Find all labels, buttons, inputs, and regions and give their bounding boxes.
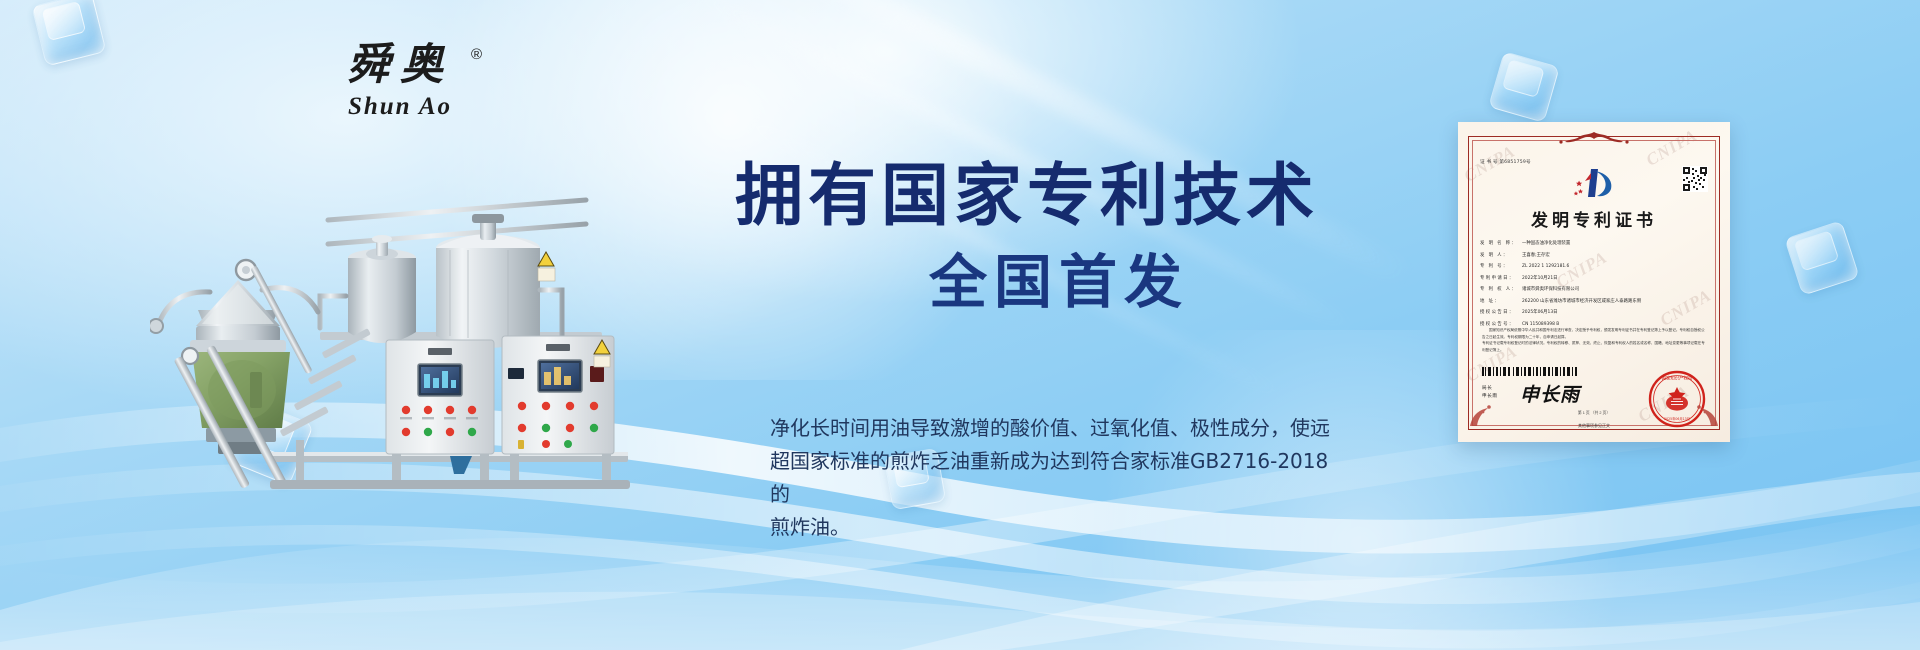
body-copy-block: 净化长时间用油导致激增的酸价值、过氧化值、极性成分，使远 超国家标准的煎炸乏油重… xyxy=(770,412,1330,544)
certificate-field-row: 发 明 人：王喜春;王存宏 xyxy=(1480,250,1708,262)
ice-cube-top-left xyxy=(31,0,106,67)
certificate-field-label: 专 利 号： xyxy=(1480,261,1522,273)
cnipa-emblem-icon xyxy=(1571,167,1617,199)
headline-secondary: 全国首发 xyxy=(735,253,1435,311)
certificate-field-row: 专 利 号：ZL 2022 1 1292181.6 xyxy=(1480,261,1708,273)
certificate-field-row: 授权公告日：2025年06月13日 xyxy=(1480,307,1708,319)
certificate-field-label: 授权公告日： xyxy=(1480,307,1522,319)
certificate-field-value: 2022年10月21日 xyxy=(1522,273,1708,285)
certificate-field-label: 发 明 人： xyxy=(1480,250,1522,262)
certificate-field-label: 专利申请日： xyxy=(1480,273,1522,285)
headline-block: 拥有国家专利技术 全国首发 xyxy=(735,163,1435,311)
certificate-field-row: 专利申请日：2022年10月21日 xyxy=(1480,273,1708,285)
certificate-director-block: 局长 申长雨 xyxy=(1482,384,1498,400)
certificate-field-value: 诸城市舜奥环保科技有限公司 xyxy=(1522,284,1708,296)
certificate-field-value: 王喜春;王存宏 xyxy=(1522,250,1708,262)
certificate-field-value: 一种固态油净化处理装置 xyxy=(1522,238,1708,250)
certificate-field-label: 发 明 名 称： xyxy=(1480,238,1522,250)
body-copy-text: 净化长时间用油导致激增的酸价值、过氧化值、极性成分，使远 超国家标准的煎炸乏油重… xyxy=(770,412,1330,544)
certificate-flourish-ornament xyxy=(1549,131,1639,145)
certificate-page-number: 第 1 页 （共 2 页） xyxy=(1458,411,1730,416)
brand-logo: 舜奥 ® Shun Ao xyxy=(330,44,470,126)
certificate-barcode xyxy=(1482,367,1580,376)
certificate-field-label: 地 址： xyxy=(1480,296,1522,308)
certificate-field-row: 地 址：262200 山东省潍坊市诸城市经济开发区咸家庄人泰路路东侧 xyxy=(1480,296,1708,308)
director-name: 申长雨 xyxy=(1482,392,1498,400)
certificate-field-row: 发 明 名 称：一种固态油净化处理装置 xyxy=(1480,238,1708,250)
certificate-title: 发明专利证书 xyxy=(1458,206,1730,231)
director-label: 局长 xyxy=(1482,384,1498,392)
svg-text:国家知识产权局: 国家知识产权局 xyxy=(1662,375,1693,382)
product-equipment-illustration xyxy=(150,140,680,500)
certificate-field-value: 2025年06月13日 xyxy=(1522,307,1708,319)
certificate-field-list: 发 明 名 称：一种固态油净化处理装置发 明 人：王喜春;王存宏专 利 号：ZL… xyxy=(1480,238,1708,330)
logo-chinese-name: 舜奥 xyxy=(330,44,470,87)
corner-ornament-bottom-left xyxy=(1470,404,1496,426)
certificate-footnote: 其他事项参见正文 xyxy=(1458,423,1730,429)
certificate-field-label: 专 利 权 人： xyxy=(1480,284,1522,296)
certificate-field-value: 262200 山东省潍坊市诸城市经济开发区咸家庄人泰路路东侧 xyxy=(1522,296,1708,308)
corner-ornament-bottom-right xyxy=(1692,404,1718,426)
headline-primary: 拥有国家专利技术 xyxy=(735,163,1435,231)
certificate-field-row: 专 利 权 人：诸城市舜奥环保科技有限公司 xyxy=(1480,284,1708,296)
director-signature: 申长雨 xyxy=(1520,380,1580,407)
ice-cube-upper-right xyxy=(1488,51,1560,123)
ice-cube-mid-right xyxy=(1784,220,1860,296)
patent-certificate: CNIPA CNIPA CNIPA CNIPA CNIPA CNIPA 证 书 … xyxy=(1458,122,1730,442)
certificate-legal-paragraph: 国家知识产权局依照中华人民共和国专利法进行审查，决定授予专利权，颁发发明专利证书… xyxy=(1482,327,1706,353)
certificate-number: 证 书 号 第6851759号 xyxy=(1480,159,1531,165)
seal-date-text: 2025年06月13日 xyxy=(1664,416,1690,421)
registered-trademark-icon: ® xyxy=(471,46,482,63)
certificate-qr-code xyxy=(1682,166,1708,192)
promotional-banner: 舜奥 ® Shun Ao 拥有国家专利技术 全国首发 净化长时间用油导致激增的酸… xyxy=(0,0,1920,650)
logo-pinyin: Shun Ao xyxy=(330,93,470,121)
certificate-field-value: ZL 2022 1 1292181.6 xyxy=(1522,261,1708,273)
